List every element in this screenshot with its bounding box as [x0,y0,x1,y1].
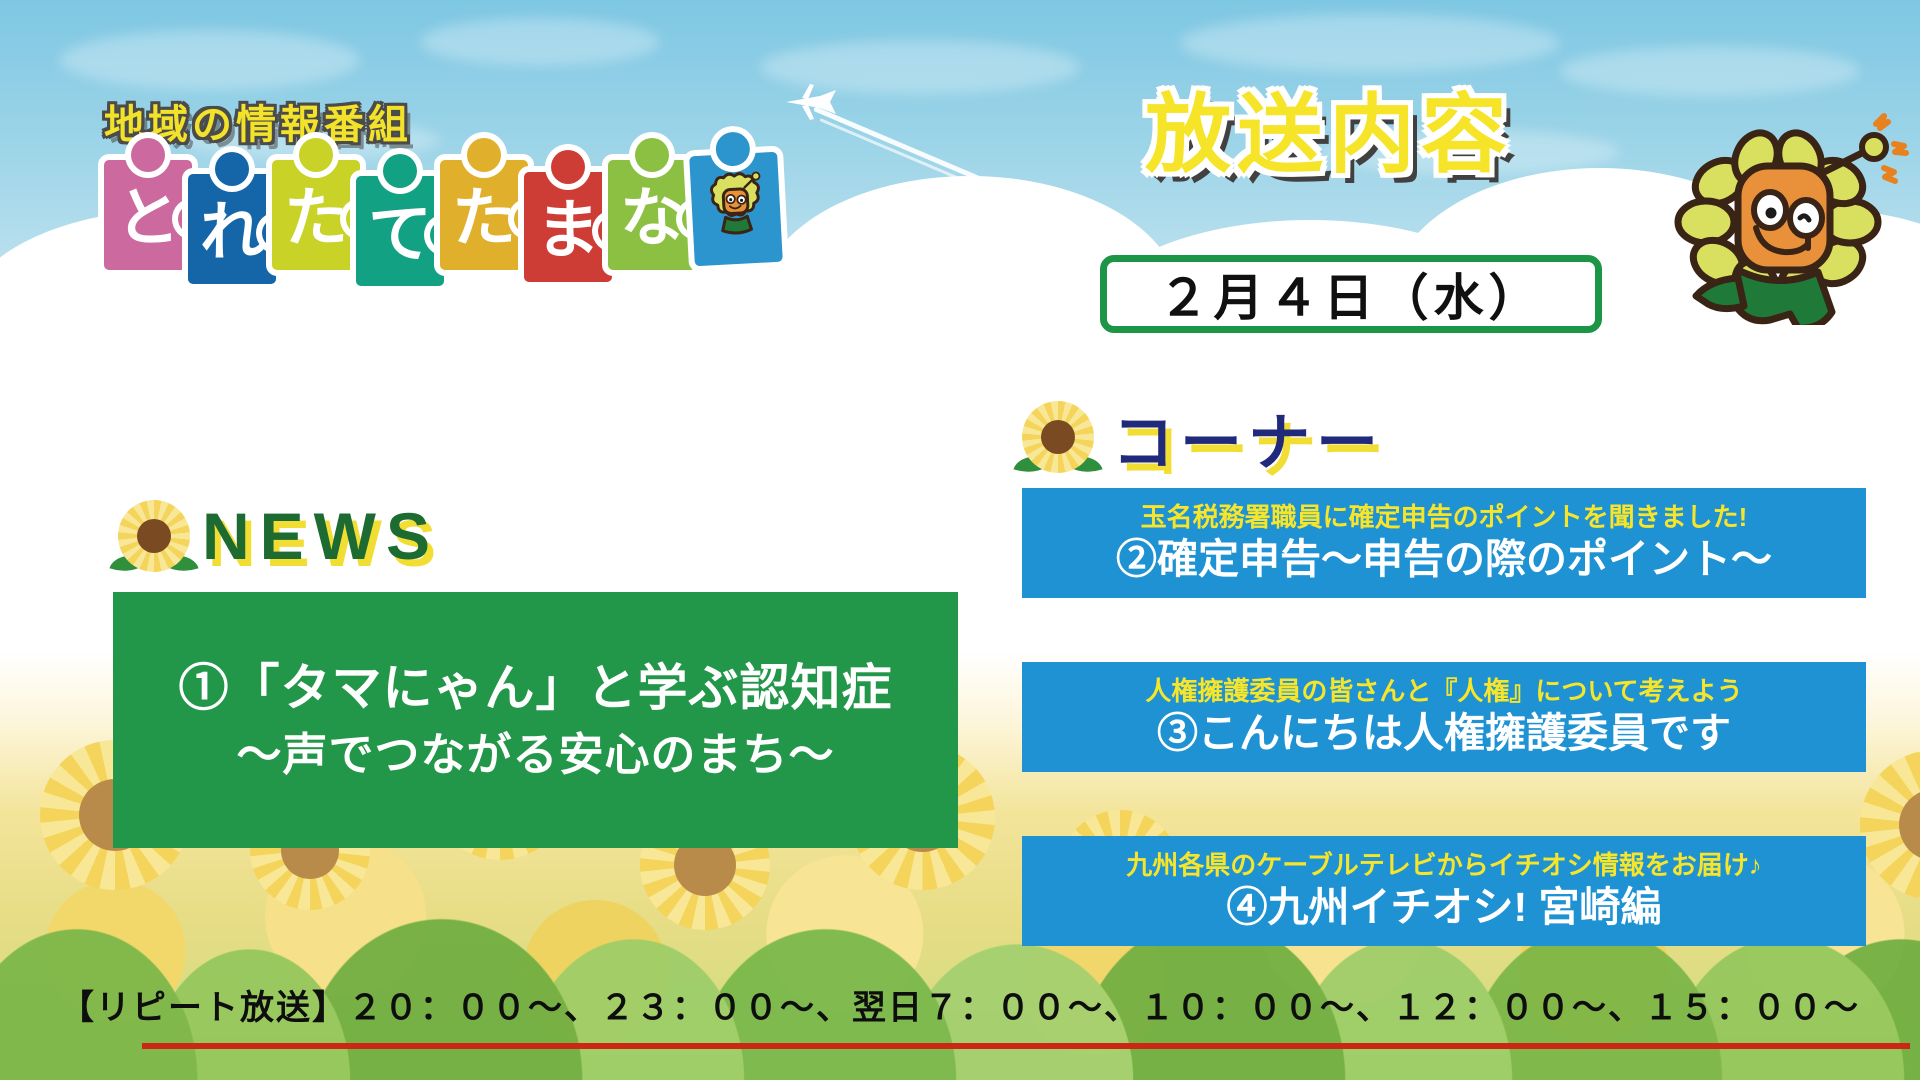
corner-item-subtitle: 人権擁護委員の皆さんと『人権』について考えよう [1145,677,1742,706]
corner-heading-text: コーナー [1112,392,1384,482]
corner-item-card[interactable]: 人権擁護委員の皆さんと『人権』について考えよう ③こんにちは人権擁護委員です [1022,662,1866,772]
sunflower-mascot-character [1660,110,1910,325]
puzzle-piece-6: な [608,160,696,270]
repeat-broadcast-text: 【リピート放送】２０：００〜、２３：００〜、翌日７：００〜、１０：００〜、１２：… [0,980,1920,1029]
puzzle-piece-4: た [440,160,528,270]
puzzle-piece-5: ま [524,172,612,282]
puzzle-piece-2: た [272,160,360,270]
puzzle-piece-char: と [104,160,192,270]
news-heading-text: NEWS [202,498,440,574]
puzzle-piece-char: た [272,160,360,270]
puzzle-piece-char: た [440,160,528,270]
puzzle-piece-3: て [356,176,444,286]
sunflower-icon [1022,401,1094,473]
corner-item-card[interactable]: 九州各県のケーブルテレビからイチオシ情報をお届け♪ ④九州イチオシ! 宮崎編 [1022,836,1866,946]
program-logo-puzzle: と れ た て た ま な [104,160,776,290]
broadcast-title: 放送内容 [1145,92,1513,178]
news-heading: NEWS [118,498,440,574]
puzzle-piece-char: れ [188,174,276,284]
broadcast-date-box: ２月４日（水） [1100,255,1602,333]
corner-item-title: ④九州イチオシ! 宮崎編 [1226,884,1661,931]
corner-item-title: ③こんにちは人権擁護委員です [1157,710,1731,757]
news-item-line2: 〜声でつながる安心のまち〜 [236,726,834,785]
airplane-icon [780,82,840,122]
broadcast-date-text: ２月４日（水） [1159,258,1544,330]
corner-item-subtitle: 玉名税務署職員に確定申告のポイントを聞きました! [1141,503,1748,532]
puzzle-piece-1: れ [188,174,276,284]
corner-item-subtitle: 九州各県のケーブルテレビからイチオシ情報をお届け♪ [1126,851,1761,880]
bottom-red-rule [142,1043,1910,1049]
puzzle-piece-0: と [104,160,192,270]
puzzle-piece-char: な [608,160,696,270]
news-item-line1: ①「タマにゃん」と学ぶ認知症 [179,656,893,720]
mini-sunflower-mascot-icon [704,166,768,239]
puzzle-piece-char: ま [524,172,612,282]
puzzle-piece-char: て [356,176,444,286]
sunflower-icon [118,500,190,572]
corner-item-title: ②確定申告〜申告の際のポイント〜 [1116,536,1772,583]
news-item-card[interactable]: ①「タマにゃん」と学ぶ認知症 〜声でつながる安心のまち〜 [113,592,958,848]
corner-heading: コーナー [1022,392,1384,482]
puzzle-piece-mascot [689,152,783,266]
poster-canvas: 地域の情報番組 と れ た て た ま な [0,0,1920,1080]
corner-item-card[interactable]: 玉名税務署職員に確定申告のポイントを聞きました! ②確定申告〜申告の際のポイント… [1022,488,1866,598]
